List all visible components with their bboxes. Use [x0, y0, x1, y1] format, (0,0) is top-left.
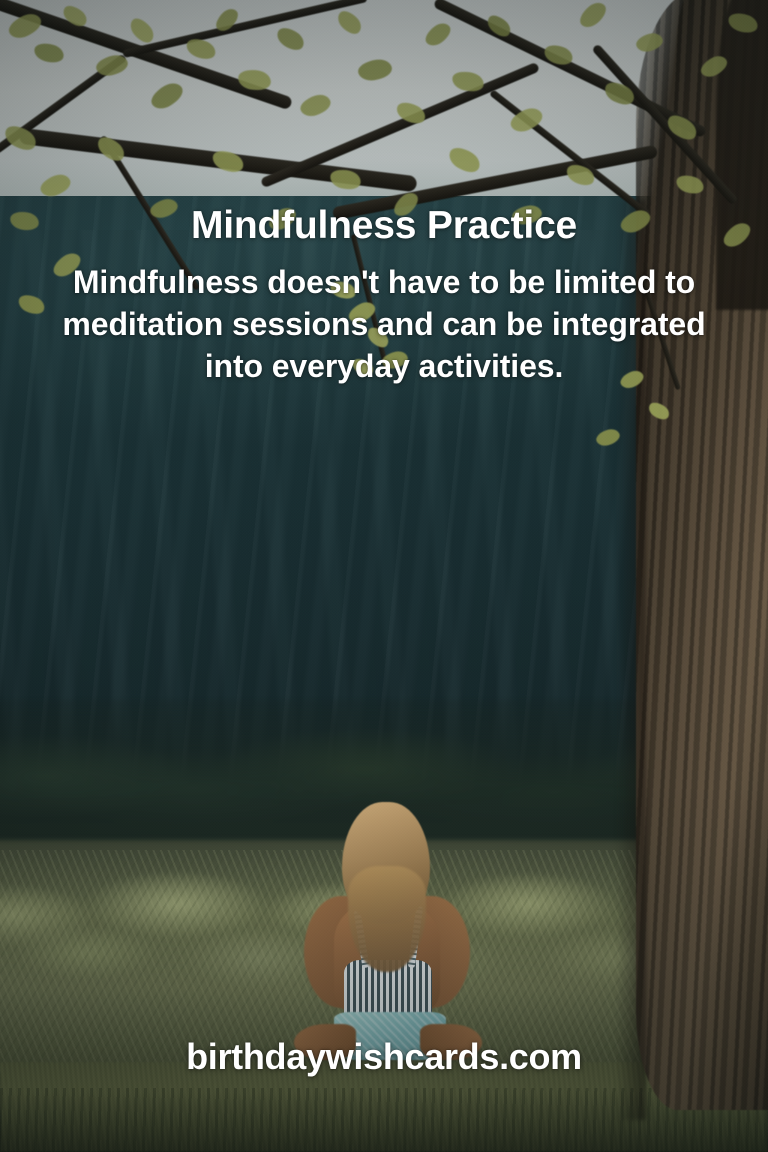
quote-text-block: Mindfulness Practice Mindfulness doesn't… [0, 206, 768, 388]
card-title: Mindfulness Practice [0, 206, 768, 245]
grass-shadow-band [0, 1088, 768, 1152]
card-body-text: Mindfulness doesn't have to be limited t… [0, 261, 768, 388]
background-photo [0, 0, 768, 1152]
meditating-woman-figure [282, 800, 492, 1062]
website-url-footer: birthdaywishcards.com [0, 1036, 768, 1078]
mindfulness-quote-card: Mindfulness Practice Mindfulness doesn't… [0, 0, 768, 1152]
